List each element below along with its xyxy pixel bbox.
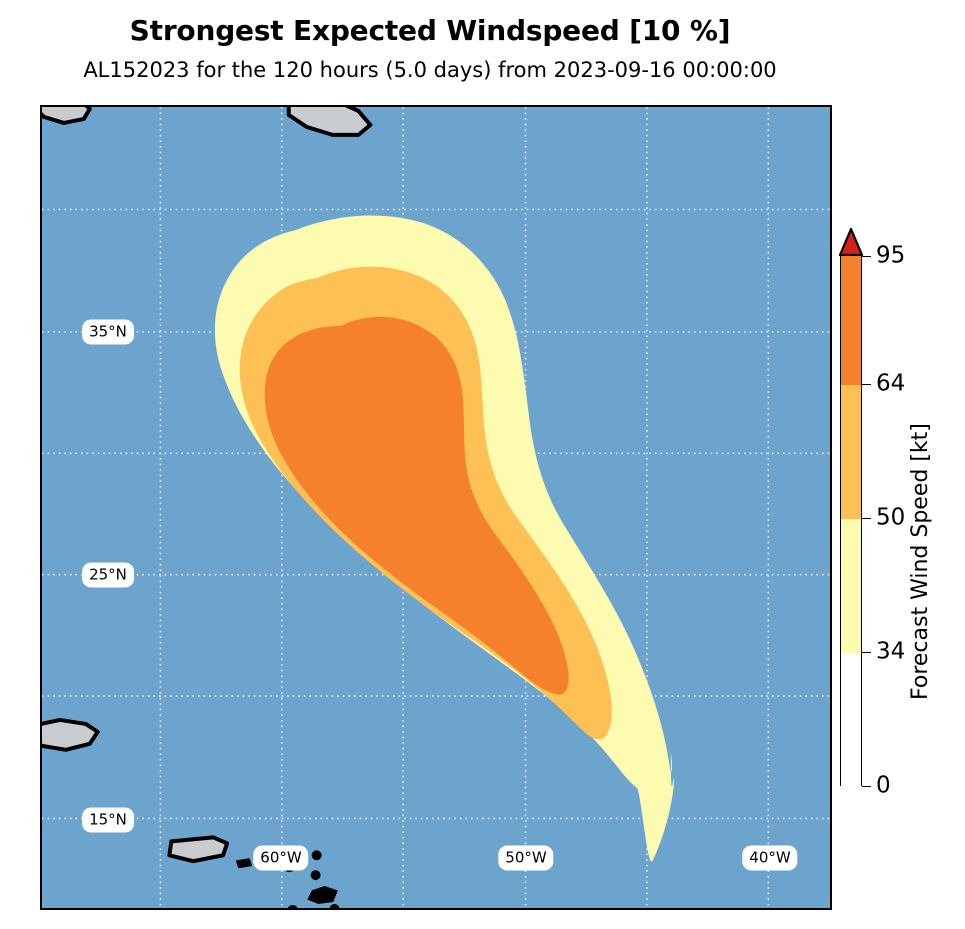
colorbar-band-0-34: [841, 653, 861, 787]
colorbar-tick-34: [862, 652, 871, 653]
colorbar-band-64-95: [841, 256, 861, 385]
colorbar-tick-95: [862, 256, 871, 257]
colorbar-extend-arrow-icon: [838, 228, 864, 256]
lon-label-60w: 60°W: [253, 846, 308, 871]
colorbar-band-34-50: [841, 519, 861, 653]
page-title: Strongest Expected Windspeed [10 %]: [0, 14, 860, 47]
colorbar-ticklabel-95: 95: [876, 245, 905, 268]
colorbar-ticklabel-34: 34: [876, 641, 905, 664]
island-montserrat: [331, 905, 339, 908]
island-barbados: [289, 906, 297, 908]
island-st-martin: [313, 851, 321, 859]
colorbar[interactable]: [840, 255, 862, 786]
lon-label-50w: 50°W: [498, 846, 553, 871]
land-nova-scotia: [42, 107, 90, 123]
land-virgin-islands: [237, 859, 251, 867]
colorbar-ticklabel-50: 50: [876, 507, 905, 530]
lon-label-40w: 40°W: [742, 846, 797, 871]
colorbar-ticklabel-0: 0: [876, 775, 891, 798]
colorbar-ticklabel-64: 64: [876, 373, 905, 396]
map-axes[interactable]: [40, 105, 832, 910]
colorbar-tick-50: [862, 518, 871, 519]
lat-label-25n: 25°N: [82, 563, 134, 588]
land-puerto-rico: [169, 837, 227, 861]
lat-label-15n: 15°N: [82, 808, 134, 833]
colorbar-axis-label: Forecast Wind Speed [kt]: [908, 340, 933, 700]
lat-label-35n: 35°N: [82, 320, 134, 345]
colorbar-tick-0: [862, 786, 871, 787]
colorbar-tick-64: [862, 384, 871, 385]
colorbar-band-50-64: [841, 385, 861, 519]
map-plot-area: [42, 107, 830, 908]
land-hispaniola: [42, 720, 98, 750]
page-subtitle: AL152023 for the 120 hours (5.0 days) fr…: [0, 58, 860, 82]
island-st-barts: [312, 871, 320, 879]
